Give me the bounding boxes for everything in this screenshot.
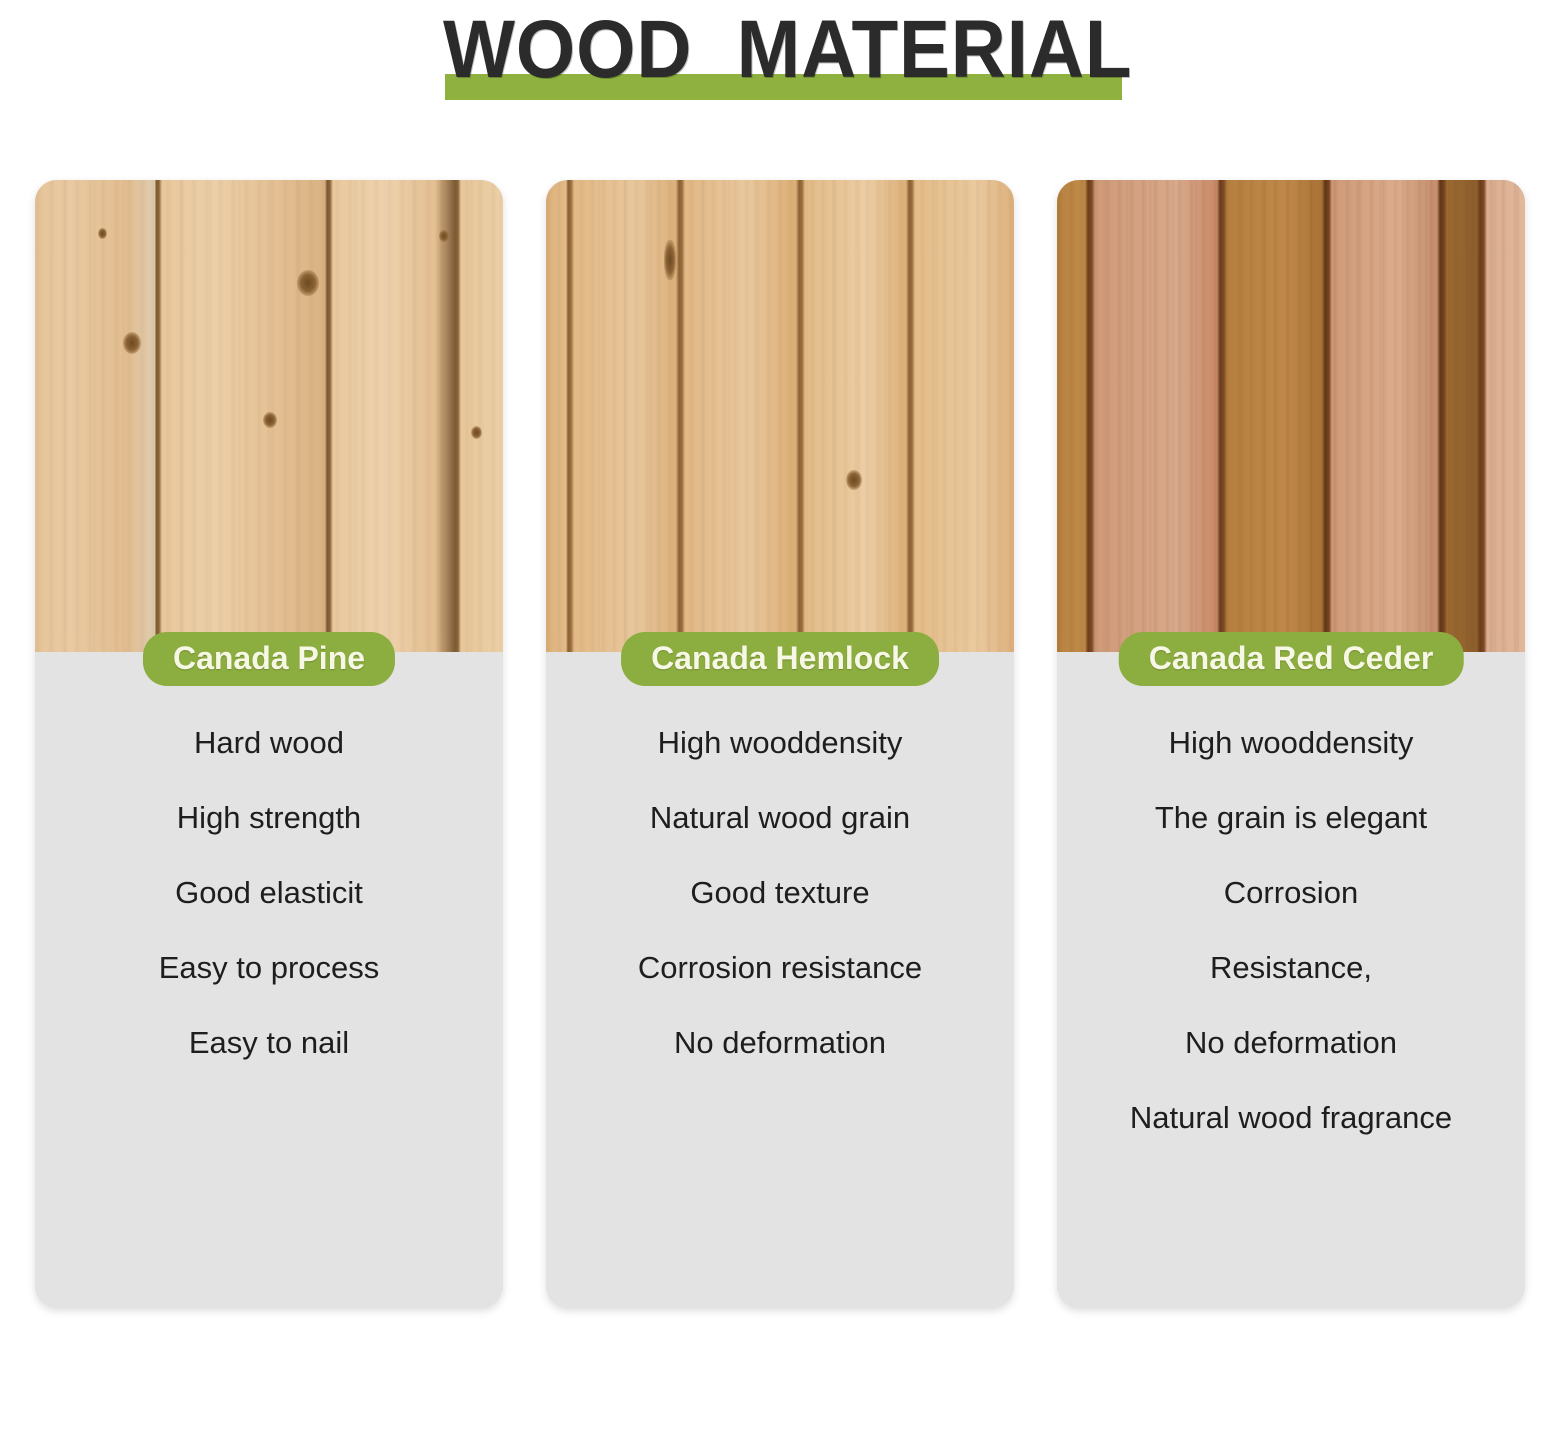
title-wrap: WOOD MATERIAL xyxy=(443,4,1184,104)
wood-knot-icon xyxy=(297,270,319,296)
wood-grain-overlay xyxy=(1057,180,1525,652)
wood-knot-icon xyxy=(664,240,676,280)
wood-card-canada-red-ceder[interactable]: Canada Red Ceder High wooddensity The gr… xyxy=(1057,180,1525,1308)
wood-photo-red-ceder xyxy=(1057,180,1525,652)
wood-knot-icon xyxy=(471,426,482,439)
wood-knot-icon xyxy=(123,332,141,354)
feature-item: No deformation xyxy=(674,1025,886,1061)
feature-item: No deformation xyxy=(1185,1025,1397,1061)
infographic-page: WOOD MATERIAL Canada Pine xyxy=(0,0,1563,1432)
wood-photo-hemlock xyxy=(546,180,1014,652)
page-title: WOOD MATERIAL xyxy=(443,4,1132,96)
feature-item: High strength xyxy=(177,800,361,836)
page-header: WOOD MATERIAL xyxy=(0,0,1563,150)
feature-item: Natural wood grain xyxy=(650,800,910,836)
feature-item: Easy to nail xyxy=(189,1025,349,1061)
wood-name-badge-canada-pine[interactable]: Canada Pine xyxy=(143,632,395,686)
feature-item: Easy to process xyxy=(159,950,380,986)
feature-list-canada-pine: Hard wood High strength Good elasticit E… xyxy=(35,725,503,1061)
feature-list-canada-hemlock: High wooddensity Natural wood grain Good… xyxy=(546,725,1014,1061)
feature-item: Natural wood fragrance xyxy=(1130,1100,1452,1136)
feature-item: Hard wood xyxy=(194,725,344,761)
wood-card-canada-hemlock[interactable]: Canada Hemlock High wooddensity Natural … xyxy=(546,180,1014,1308)
wood-name-badge-canada-hemlock[interactable]: Canada Hemlock xyxy=(621,632,939,686)
wood-knot-icon xyxy=(263,412,277,428)
wood-knot-icon xyxy=(846,470,862,490)
feature-item: Corrosion resistance xyxy=(638,950,922,986)
feature-item: Corrosion xyxy=(1224,875,1358,911)
wood-card-list: Canada Pine Hard wood High strength Good… xyxy=(35,180,1525,1310)
wood-knot-icon xyxy=(98,228,107,239)
feature-list-canada-red-ceder: High wooddensity The grain is elegant Co… xyxy=(1057,725,1525,1136)
wood-knot-icon xyxy=(439,230,449,242)
feature-item: Good texture xyxy=(690,875,869,911)
feature-item: Resistance, xyxy=(1210,950,1372,986)
wood-grain-overlay xyxy=(546,180,1014,652)
wood-card-canada-pine[interactable]: Canada Pine Hard wood High strength Good… xyxy=(35,180,503,1308)
feature-item: The grain is elegant xyxy=(1155,800,1427,836)
wood-photo-pine xyxy=(35,180,503,652)
feature-item: High wooddensity xyxy=(1169,725,1414,761)
feature-item: Good elasticit xyxy=(175,875,363,911)
wood-name-badge-canada-red-ceder[interactable]: Canada Red Ceder xyxy=(1119,632,1464,686)
feature-item: High wooddensity xyxy=(658,725,903,761)
